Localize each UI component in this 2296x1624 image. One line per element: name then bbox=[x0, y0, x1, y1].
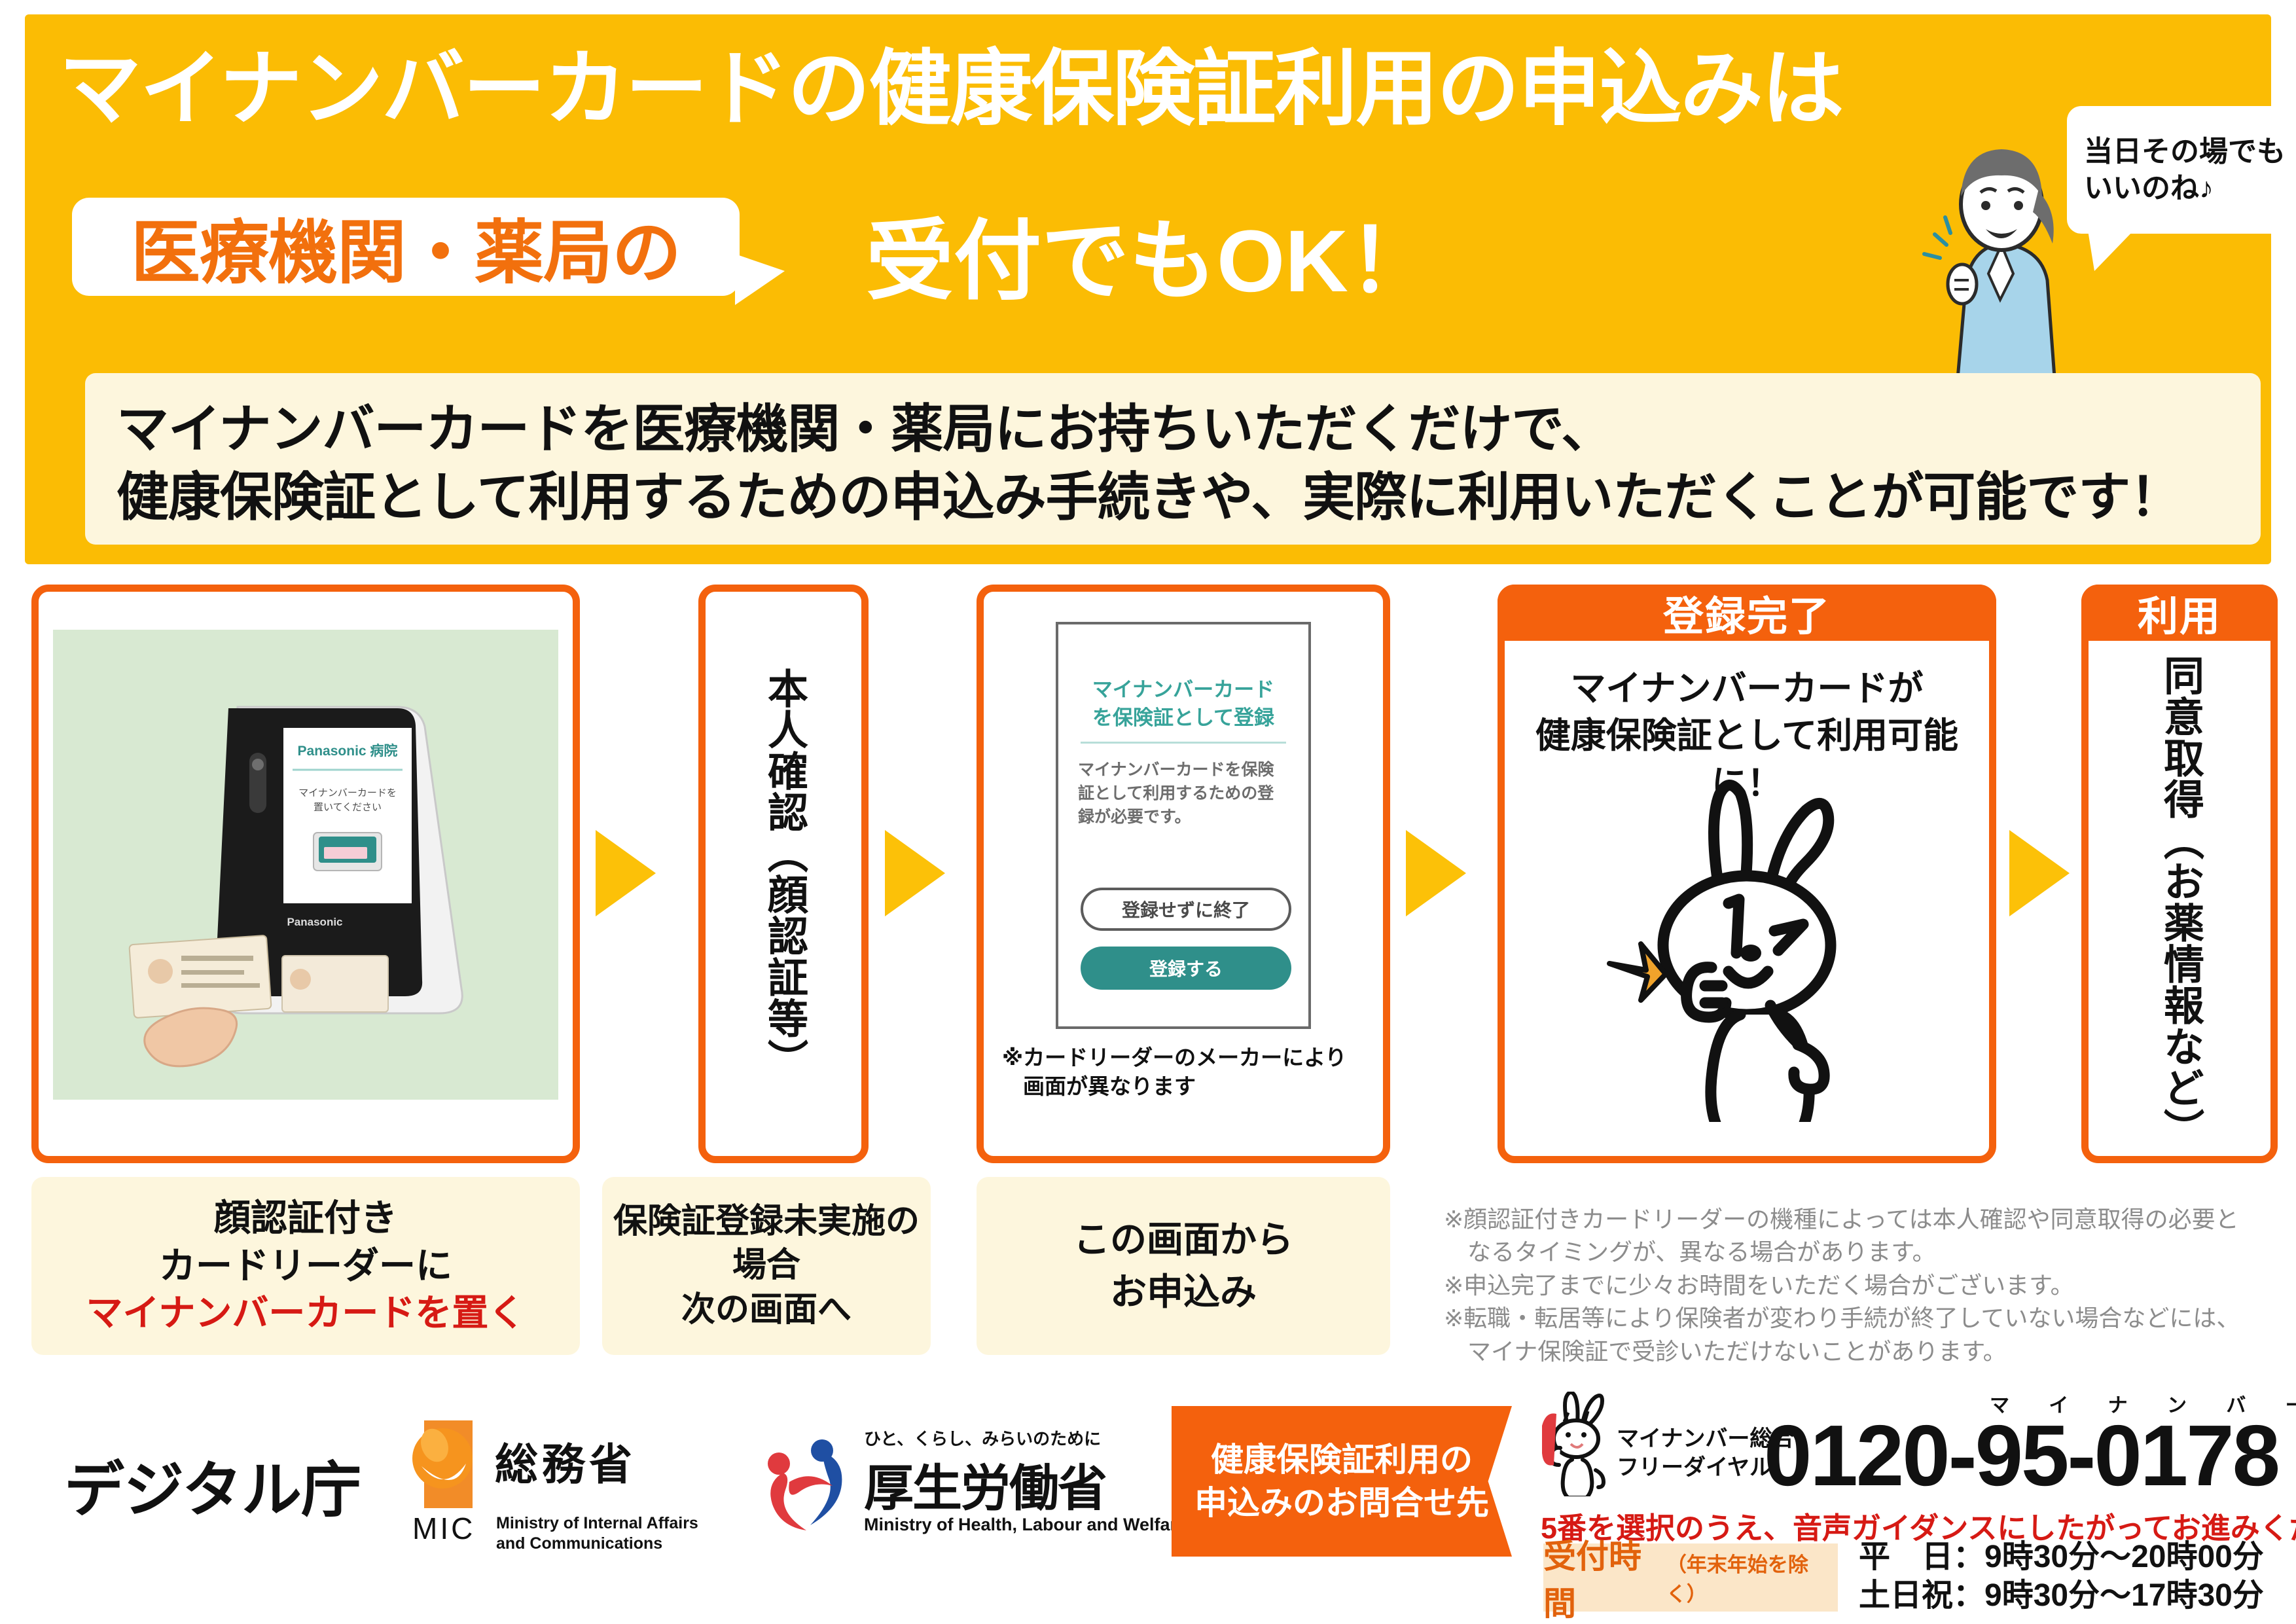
hours-weekend: 土日祝：9時30分〜17時30分 bbox=[1859, 1577, 2264, 1615]
mic-mark-icon bbox=[412, 1420, 483, 1508]
caption-step-2: 保険証登録未実施の 場合 次の画面へ bbox=[602, 1177, 931, 1355]
myna-chan-rabbit-mascot bbox=[1590, 755, 1904, 1122]
registration-complete-header: 登録完了 bbox=[1498, 585, 1996, 641]
screen-body-text: マイナンバーカードを保険証として利用するための登録が必要です。 bbox=[1078, 758, 1289, 829]
mic-en-line-2: and Communications bbox=[496, 1534, 662, 1553]
mic-jp-label: 総務省 bbox=[495, 1430, 636, 1492]
contact-banner-line-1: 健康保険証利用の bbox=[1211, 1438, 1473, 1481]
logo-digital-agency: デジタル庁 bbox=[64, 1441, 361, 1528]
hours-weekday: 平 日：9時30分〜20時00分 bbox=[1859, 1538, 2264, 1577]
screen-title-line-1: マイナンバーカード bbox=[1092, 678, 1274, 701]
mhlw-tagline: ひと、くらし、みらいのために bbox=[864, 1426, 1101, 1450]
card-reader-photo: Panasonic 病院 マイナンバーカードを 置いてください Panasoni… bbox=[53, 630, 558, 1100]
footnote-1: ※顔認証付きカードリーダーの機種によっては本人確認や同意取得の必要と bbox=[1444, 1203, 2276, 1236]
pill-tail-icon bbox=[735, 254, 785, 305]
mic-abbr-label: MIC bbox=[412, 1511, 475, 1546]
footnote-4: ※転職・転居等により保険者が変わり手続が終了していない場合などには、 bbox=[1444, 1302, 2276, 1335]
mic-en-label: Ministry of Internal Affairs and Communi… bbox=[496, 1513, 698, 1555]
step-usage: 利用 同意取得（お薬情報など） bbox=[2081, 585, 2278, 1163]
pill-medical-institution: 医療機関・薬局の bbox=[72, 198, 740, 296]
caption-step-1: 顔認証付き カードリーダーに マイナンバーカードを置く bbox=[31, 1177, 580, 1355]
exit-without-register-button[interactable]: 登録せずに終了 bbox=[1081, 888, 1291, 931]
caption-1-line-1: 顔認証付き bbox=[214, 1195, 397, 1242]
poster-root: マイナンバーカードの健康保険証利用の申込みは 医療機関・薬局の 受付でもOK！ … bbox=[0, 0, 2296, 1624]
contact-banner-line-2: 申込みのお問合せ先 bbox=[1194, 1481, 1489, 1525]
dial-info: マイナンバー総合 フリーダイヤル マ イ ナ ン バ ー 0120-95-017… bbox=[1532, 1388, 2284, 1617]
screen-title-line-2: を保険証として登録 bbox=[1092, 706, 1274, 729]
arrow-right-icon-1 bbox=[596, 830, 656, 916]
speech-bubble: 当日その場でも いいのね♪ bbox=[2067, 106, 2296, 234]
bubble-line-2: いいのね♪ bbox=[2084, 170, 2214, 206]
svg-text:Panasonic 病院: Panasonic 病院 bbox=[298, 743, 398, 759]
register-button[interactable]: 登録する bbox=[1081, 947, 1291, 990]
description-line-1: マイナンバーカードを医療機関・薬局にお持ちいただくだけで、 bbox=[117, 395, 2229, 463]
description-line-2: 健康保険証として利用するための申込み手続きや、実際に利用いただくことが可能です！ bbox=[117, 463, 2229, 532]
svg-text:置いてください: 置いてください bbox=[314, 802, 382, 813]
footnote-5: マイナ保険証で受診いただけないことがあります。 bbox=[1444, 1335, 2276, 1368]
caption-2-line-3: 次の画面へ bbox=[681, 1288, 852, 1333]
usage-consent-label: 同意取得（お薬情報など） bbox=[2159, 655, 2200, 1149]
dial-phone-number[interactable]: 0120-95-0178 bbox=[1764, 1406, 2278, 1505]
page-title: マイナンバーカードの健康保険証利用の申込みは bbox=[59, 46, 2062, 132]
screen-divider bbox=[1081, 742, 1286, 744]
description-box: マイナンバーカードを医療機関・薬局にお持ちいただくだけで、 健康保険証として利用… bbox=[85, 373, 2261, 545]
registration-complete-header-label: 登録完了 bbox=[1663, 583, 1831, 642]
complete-body-line-1: マイナンバーカードが bbox=[1571, 669, 1924, 708]
mhlw-jp-label: 厚生労働省 bbox=[864, 1448, 1106, 1520]
header-band: マイナンバーカードの健康保険証利用の申込みは 医療機関・薬局の 受付でもOK！ … bbox=[25, 14, 2271, 564]
bubble-line-1: 当日その場でも bbox=[2084, 134, 2286, 170]
mhlw-mark-icon bbox=[759, 1435, 857, 1533]
pill-label: 医療機関・薬局の bbox=[131, 196, 681, 297]
caption-1-line-2: カードリーダーに bbox=[159, 1242, 452, 1290]
hours-values: 平 日：9時30分〜20時00分 土日祝：9時30分〜17時30分 bbox=[1859, 1538, 2264, 1615]
hours-label: 受付時間 bbox=[1543, 1530, 1666, 1624]
step-identity-verification: 本人確認（顔認証等） bbox=[698, 585, 869, 1163]
caption-1-highlight: マイナンバーカードを置く bbox=[86, 1290, 526, 1337]
caption-step-3: この画面から お申込み bbox=[977, 1177, 1390, 1355]
registration-screen-mock: マイナンバーカード を保険証として登録 マイナンバーカードを保険証として利用する… bbox=[1056, 622, 1311, 1029]
screen-note-line-1: ※カードリーダーのメーカーにより bbox=[1002, 1043, 1375, 1072]
bubble-tail-icon bbox=[2088, 230, 2134, 271]
screen-note-line-2: 画面が異なります bbox=[1002, 1072, 1375, 1101]
caption-3-line-2: お申込み bbox=[1110, 1266, 1257, 1318]
svg-text:マイナンバーカードを: マイナンバーカードを bbox=[298, 787, 397, 799]
arrow-right-icon-3 bbox=[1406, 830, 1466, 916]
step-registration-complete: 登録完了 マイナンバーカードが 健康保険証として利用可能に！ bbox=[1498, 585, 1996, 1163]
contact-banner: 健康保険証利用の 申込みのお問合せ先 bbox=[1172, 1406, 1512, 1557]
step-card-reader-photo: Panasonic 病院 マイナンバーカードを 置いてください Panasoni… bbox=[31, 585, 580, 1163]
mhlw-en-label: Ministry of Health, Labour and Welfare bbox=[864, 1515, 1187, 1535]
dial-label-line-2: フリーダイヤル bbox=[1617, 1455, 1772, 1480]
arrow-right-icon-4 bbox=[2009, 830, 2070, 916]
footnote-2: なるタイミングが、異なる場合があります。 bbox=[1444, 1236, 2276, 1269]
caption-3-line-1: この画面から bbox=[1073, 1214, 1293, 1266]
logo-mic: 総務省 MIC Ministry of Internal Affairs and… bbox=[412, 1415, 720, 1566]
caption-2-line-1: 保険証登録未実施の bbox=[613, 1200, 920, 1244]
identity-verification-label: 本人確認（顔認証等） bbox=[763, 668, 804, 1080]
caption-2-line-2: 場合 bbox=[732, 1244, 800, 1288]
hours-label-note: （年末年始を除く） bbox=[1666, 1548, 1838, 1607]
footnotes: ※顔認証付きカードリーダーの機種によっては本人確認や同意取得の必要と なるタイミ… bbox=[1444, 1203, 2276, 1368]
svg-text:Panasonic: Panasonic bbox=[287, 916, 342, 928]
step-registration-screen: マイナンバーカード を保険証として登録 マイナンバーカードを保険証として利用する… bbox=[977, 585, 1390, 1163]
myna-chan-small-icon bbox=[1538, 1392, 1617, 1496]
ok-headline: 受付でもOK！ bbox=[866, 190, 1436, 317]
mic-en-line-1: Ministry of Internal Affairs bbox=[496, 1514, 698, 1532]
hours-label-box: 受付時間（年末年始を除く） bbox=[1543, 1543, 1838, 1612]
arrow-right-icon-2 bbox=[885, 830, 945, 916]
footnote-3: ※申込完了までに少々お時間をいただく場合がございます。 bbox=[1444, 1269, 2276, 1302]
logo-mhlw: ひと、くらし、みらいのために 厚生労働省 Ministry of Health,… bbox=[759, 1422, 1126, 1566]
screen-variation-note: ※カードリーダーのメーカーにより 画面が異なります bbox=[1002, 1043, 1375, 1101]
